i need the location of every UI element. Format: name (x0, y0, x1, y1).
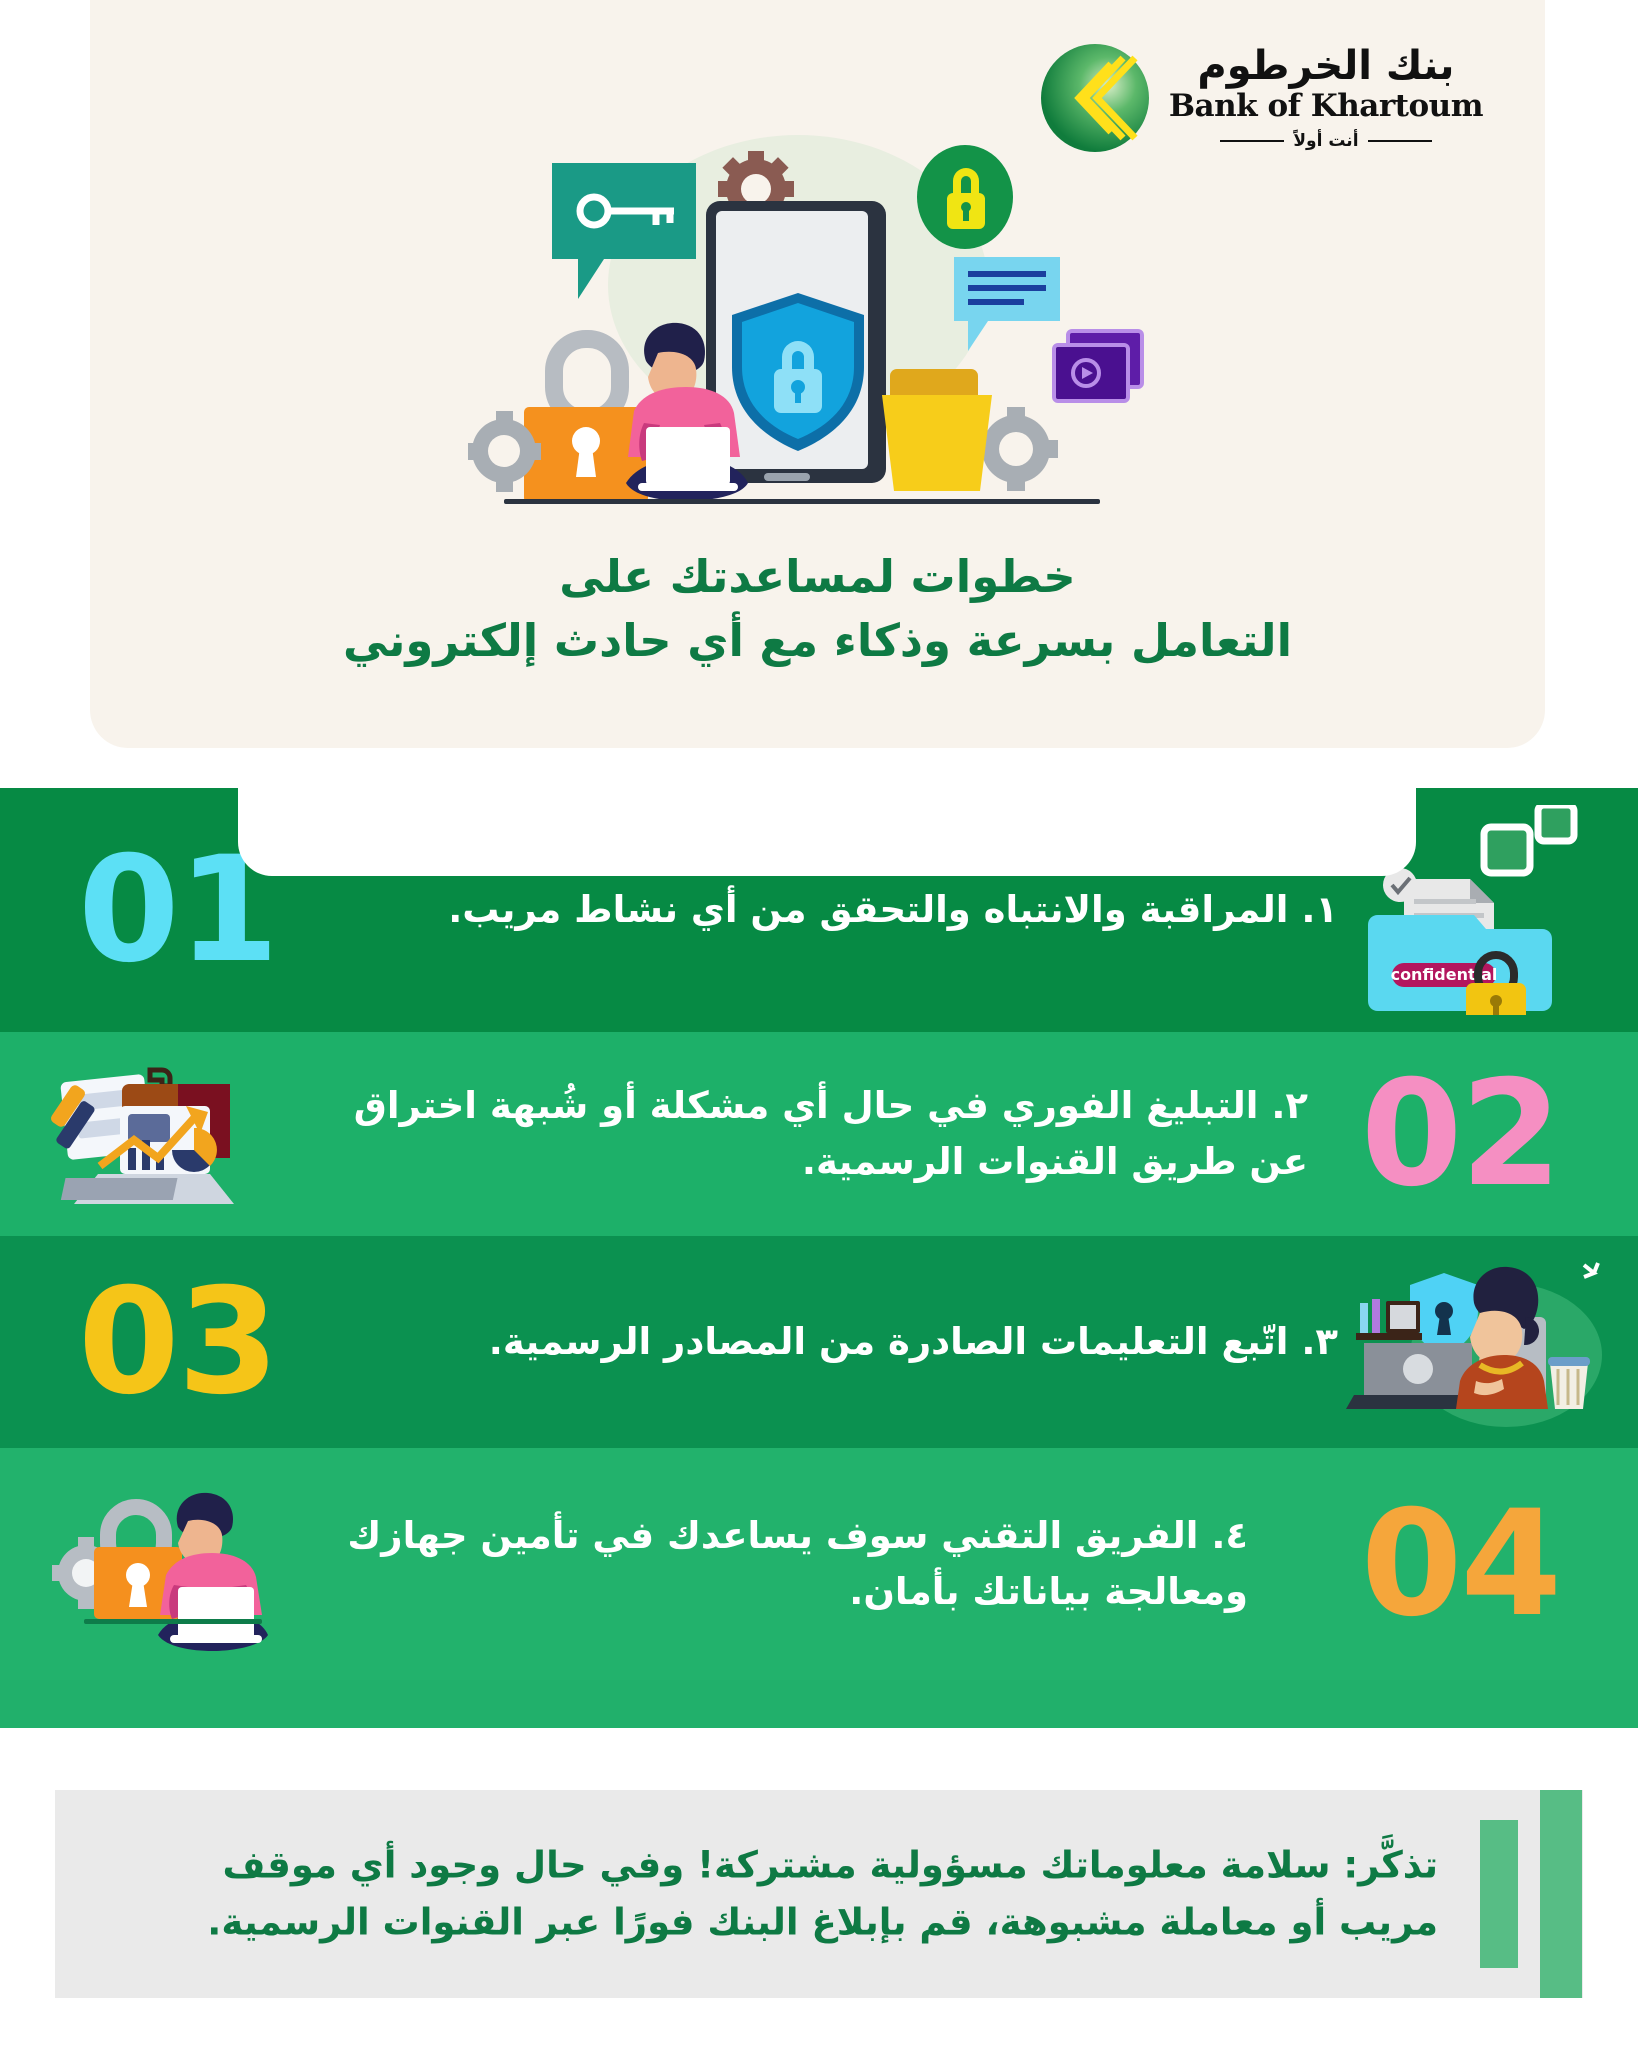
step-number-04: 04 (1361, 1491, 1560, 1637)
woman-at-laptop-shield-icon (1328, 1247, 1618, 1437)
tagline-rule-left (1368, 140, 1432, 142)
logo-tagline-text: أنت أولاً (1293, 131, 1358, 151)
briefcase-laptop-report-icon (28, 1044, 278, 1224)
step-number-02: 02 (1361, 1061, 1560, 1207)
logo-tagline: أنت أولاً (1169, 131, 1483, 151)
step-text-03: ٣. اتّبع التعليمات الصادرة من المصادر ال… (380, 1314, 1338, 1370)
top-notch (238, 788, 1416, 876)
logo-wordmark: بنك الخرطوم Bank of Khartoum أنت أولاً (1169, 45, 1483, 152)
decorative-mark-icon (1584, 1263, 1598, 1277)
footer-note-text: تذكَّر: سلامة معلوماتك مسؤولية مشتركة! و… (145, 1837, 1438, 1952)
steps-section-bottom (0, 1680, 1638, 1728)
person-laptop-padlock-gear-icon (28, 1469, 298, 1659)
step-text-02: ٢. التبليغ الفوري في حال أي مشكلة أو شُب… (300, 1078, 1308, 1190)
step-row-3: 03 ٣. اتّبع التعليمات الصادرة من المصادر… (0, 1236, 1638, 1448)
coffee-cup-icon (1548, 1357, 1590, 1409)
media-cards-icon (1054, 331, 1142, 401)
ground-line (84, 1619, 262, 1624)
step-row-4: 04 ٤. الفريق التقني سوف يساعدك في تأمين … (0, 1448, 1638, 1680)
step-row-2: 02 ٢. التبليغ الفوري في حال أي مشكلة أو … (0, 1032, 1638, 1236)
bookshelf-icon (1356, 1299, 1422, 1340)
page-title-line1: خطوات لمساعدتك على (200, 545, 1435, 609)
chat-bubble-icon (954, 257, 1060, 351)
hero-card: بنك الخرطوم Bank of Khartoum أنت أولاً (90, 0, 1545, 748)
person-with-laptop-icon (158, 1493, 268, 1651)
footer-note: تذكَّر: سلامة معلوماتك مسؤولية مشتركة! و… (55, 1790, 1583, 1998)
logo-arabic-name: بنك الخرطوم (1169, 45, 1483, 87)
decorative-square-icon (1484, 827, 1530, 873)
page-title: خطوات لمساعدتك على التعامل بسرعة وذكاء م… (90, 545, 1545, 673)
logo-english-name: Bank of Khartoum (1169, 89, 1483, 125)
decorative-square-icon (1538, 805, 1574, 841)
hero-illustration (468, 105, 1168, 515)
green-circle-lock-icon (917, 145, 1013, 249)
step-text-04: ٤. الفريق التقني سوف يساعدك في تأمين جها… (300, 1508, 1248, 1620)
steps-section: 01 ١. المراقبة والانتباه والتحقق من أي ن… (0, 788, 1638, 1728)
footer-accent-bar-left (1480, 1820, 1518, 1968)
page-title-line2: التعامل بسرعة وذكاء مع أي حادث إلكتروني (200, 609, 1435, 673)
tagline-rule-right (1220, 140, 1284, 142)
footer-accent-bar-right (1540, 1790, 1582, 1998)
yellow-folder-icon (882, 369, 992, 491)
step-number-03: 03 (78, 1269, 277, 1415)
step-text-01: ١. المراقبة والانتباه والتحقق من أي نشاط… (360, 882, 1338, 938)
